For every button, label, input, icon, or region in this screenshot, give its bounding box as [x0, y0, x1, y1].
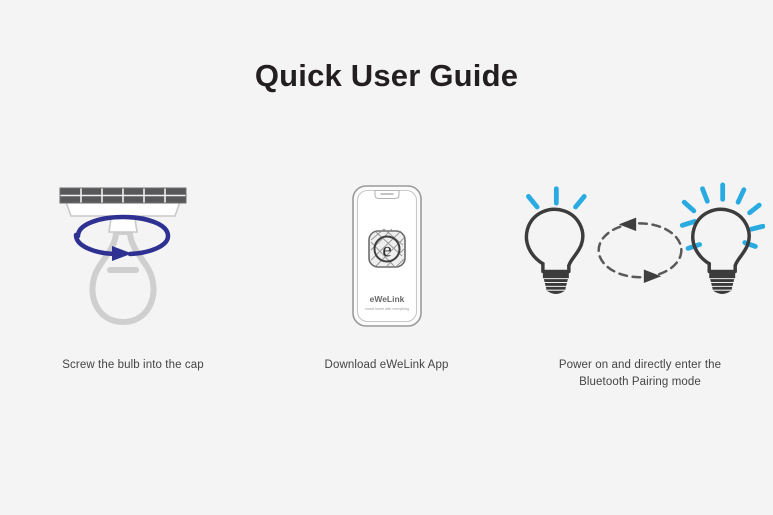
step-3-illustration: [515, 180, 765, 335]
app-name-label: eWeLink: [369, 294, 404, 304]
pairing-cycle-arrows-icon: [599, 218, 682, 283]
bulb-right-icon: [682, 185, 763, 294]
step-download-app: e eWeLink smart home with everything Dow…: [262, 180, 512, 374]
step-2-caption: Download eWeLink App: [325, 357, 449, 374]
quick-user-guide-page: Quick User Guide: [0, 0, 773, 515]
step-1-caption: Screw the bulb into the cap: [62, 357, 203, 374]
step-2-illustration: e eWeLink smart home with everything: [262, 180, 512, 335]
bulb-screw-into-cap-icon: [38, 180, 228, 335]
arrowhead-left: [619, 218, 636, 231]
ewelink-app-logo-icon: e: [369, 229, 405, 267]
step-bluetooth-pairing: Power on and directly enter the Bluetoot…: [515, 180, 765, 391]
arrowhead-right: [644, 270, 661, 283]
bulb-right-base: [709, 272, 735, 294]
step-1-caption-line1: Screw the bulb into the cap: [62, 359, 203, 371]
steps-container: Screw the bulb into the cap: [0, 180, 773, 391]
step-screw-bulb: Screw the bulb into the cap: [8, 180, 258, 374]
step-3-caption-line1: Power on and directly enter the: [559, 359, 721, 371]
step-3-caption-line2: Bluetooth Pairing mode: [559, 374, 721, 391]
app-tagline-label: smart home with everything: [365, 307, 409, 311]
cap-grille: [60, 188, 186, 203]
two-bulbs-blinking-icon: [515, 180, 765, 335]
svg-text:e: e: [382, 238, 391, 262]
step-3-caption: Power on and directly enter the Bluetoot…: [559, 357, 721, 391]
phone-ewelink-app-icon: e eWeLink smart home with everything: [332, 180, 442, 335]
step-2-caption-line1: Download eWeLink App: [325, 359, 449, 371]
bulb-left-base: [543, 272, 569, 294]
page-title: Quick User Guide: [0, 58, 773, 94]
bulb-left-icon: [526, 189, 584, 294]
step-1-illustration: [8, 180, 258, 335]
